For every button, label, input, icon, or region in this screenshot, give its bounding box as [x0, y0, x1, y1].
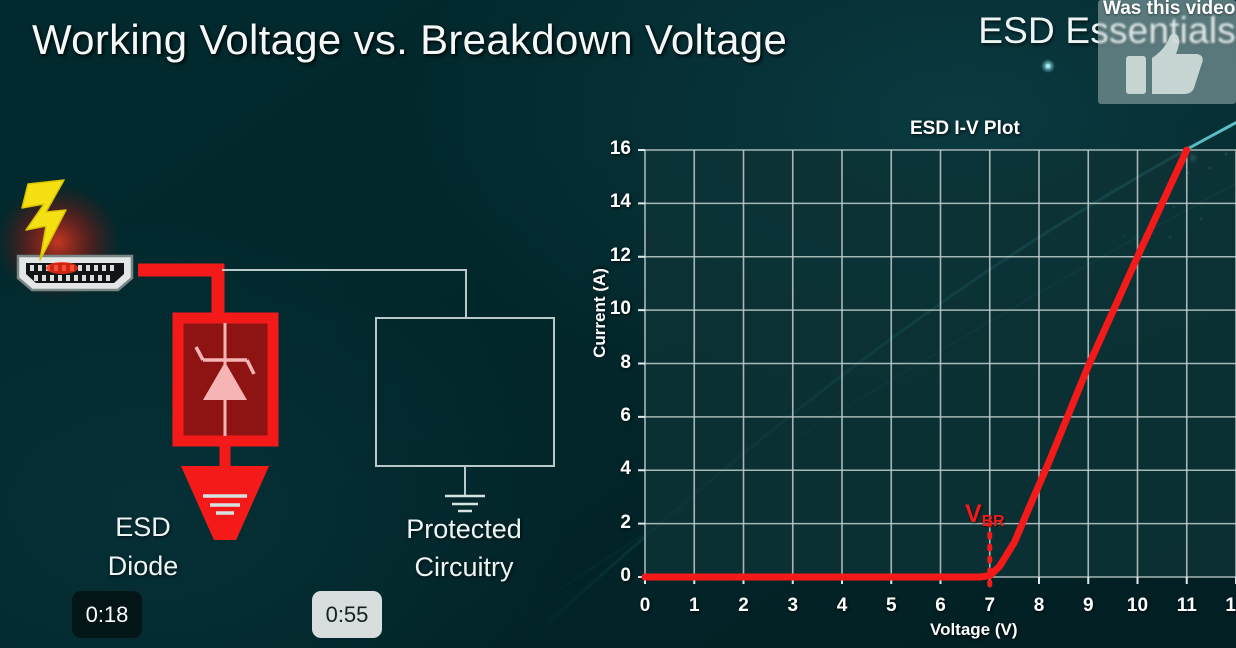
- esd-diode-label-line1: ESD: [88, 508, 198, 547]
- hdmi-connector-icon: [18, 256, 132, 290]
- x-tick-label: 8: [1024, 595, 1054, 617]
- x-tick-label: 7: [975, 595, 1005, 617]
- survey-question: Was this video helpful?: [1103, 0, 1236, 20]
- x-tick-label: 1: [679, 595, 709, 617]
- survey-overlay[interactable]: Was this video helpful?: [1098, 0, 1236, 104]
- protected-label-line2: Circuitry: [380, 548, 548, 586]
- vbr-main: V: [965, 500, 982, 528]
- esd-diode-label: ESD Diode: [88, 508, 198, 586]
- x-tick-label: 9: [1073, 595, 1103, 617]
- x-tick-label: 11: [1172, 595, 1202, 617]
- x-tick-label: 2: [729, 595, 759, 617]
- chart-plot-area: [580, 108, 1236, 648]
- x-tick-label: 0: [630, 595, 660, 617]
- y-tick-label: 0: [597, 565, 631, 587]
- protected-label-line1: Protected: [380, 510, 548, 548]
- y-tick-label: 12: [597, 245, 631, 267]
- chart-title: ESD I-V Plot: [910, 118, 1020, 140]
- vbr-sub: BR: [982, 513, 1005, 530]
- y-tick-label: 2: [597, 512, 631, 534]
- page-title: Working Voltage vs. Breakdown Voltage: [32, 16, 787, 64]
- x-tick-label: 5: [876, 595, 906, 617]
- x-tick-label: 3: [778, 595, 808, 617]
- y-tick-label: 14: [597, 191, 631, 213]
- protected-circuitry-label: Protected Circuitry: [380, 510, 548, 587]
- ground-icon: [203, 496, 247, 513]
- y-tick-label: 10: [597, 298, 631, 320]
- ground-icon-protected: [445, 496, 485, 511]
- y-tick-label: 4: [597, 458, 631, 480]
- x-tick-label: 6: [926, 595, 956, 617]
- x-tick-label: 10: [1123, 595, 1153, 617]
- y-tick-label: 16: [597, 138, 631, 160]
- total-time-badge[interactable]: 0:55: [312, 591, 382, 638]
- esd-diode-label-line2: Diode: [88, 547, 198, 586]
- current-time-badge[interactable]: 0:18: [72, 591, 142, 638]
- circuit-diagram: ESD Diode Protected Circuitry: [0, 160, 600, 540]
- chart-x-axis-label: Voltage (V): [930, 620, 1018, 640]
- x-tick-label: 4: [827, 595, 857, 617]
- y-tick-label: 6: [597, 405, 631, 427]
- thumbs-up-icon[interactable]: [1126, 30, 1206, 100]
- breakdown-voltage-annotation: VBR: [965, 500, 1004, 531]
- esd-iv-chart: ESD I-V Plot Current (A) Voltage (V) VBR…: [580, 108, 1236, 648]
- y-tick-label: 8: [597, 352, 631, 374]
- x-tick-label: 12: [1221, 595, 1236, 617]
